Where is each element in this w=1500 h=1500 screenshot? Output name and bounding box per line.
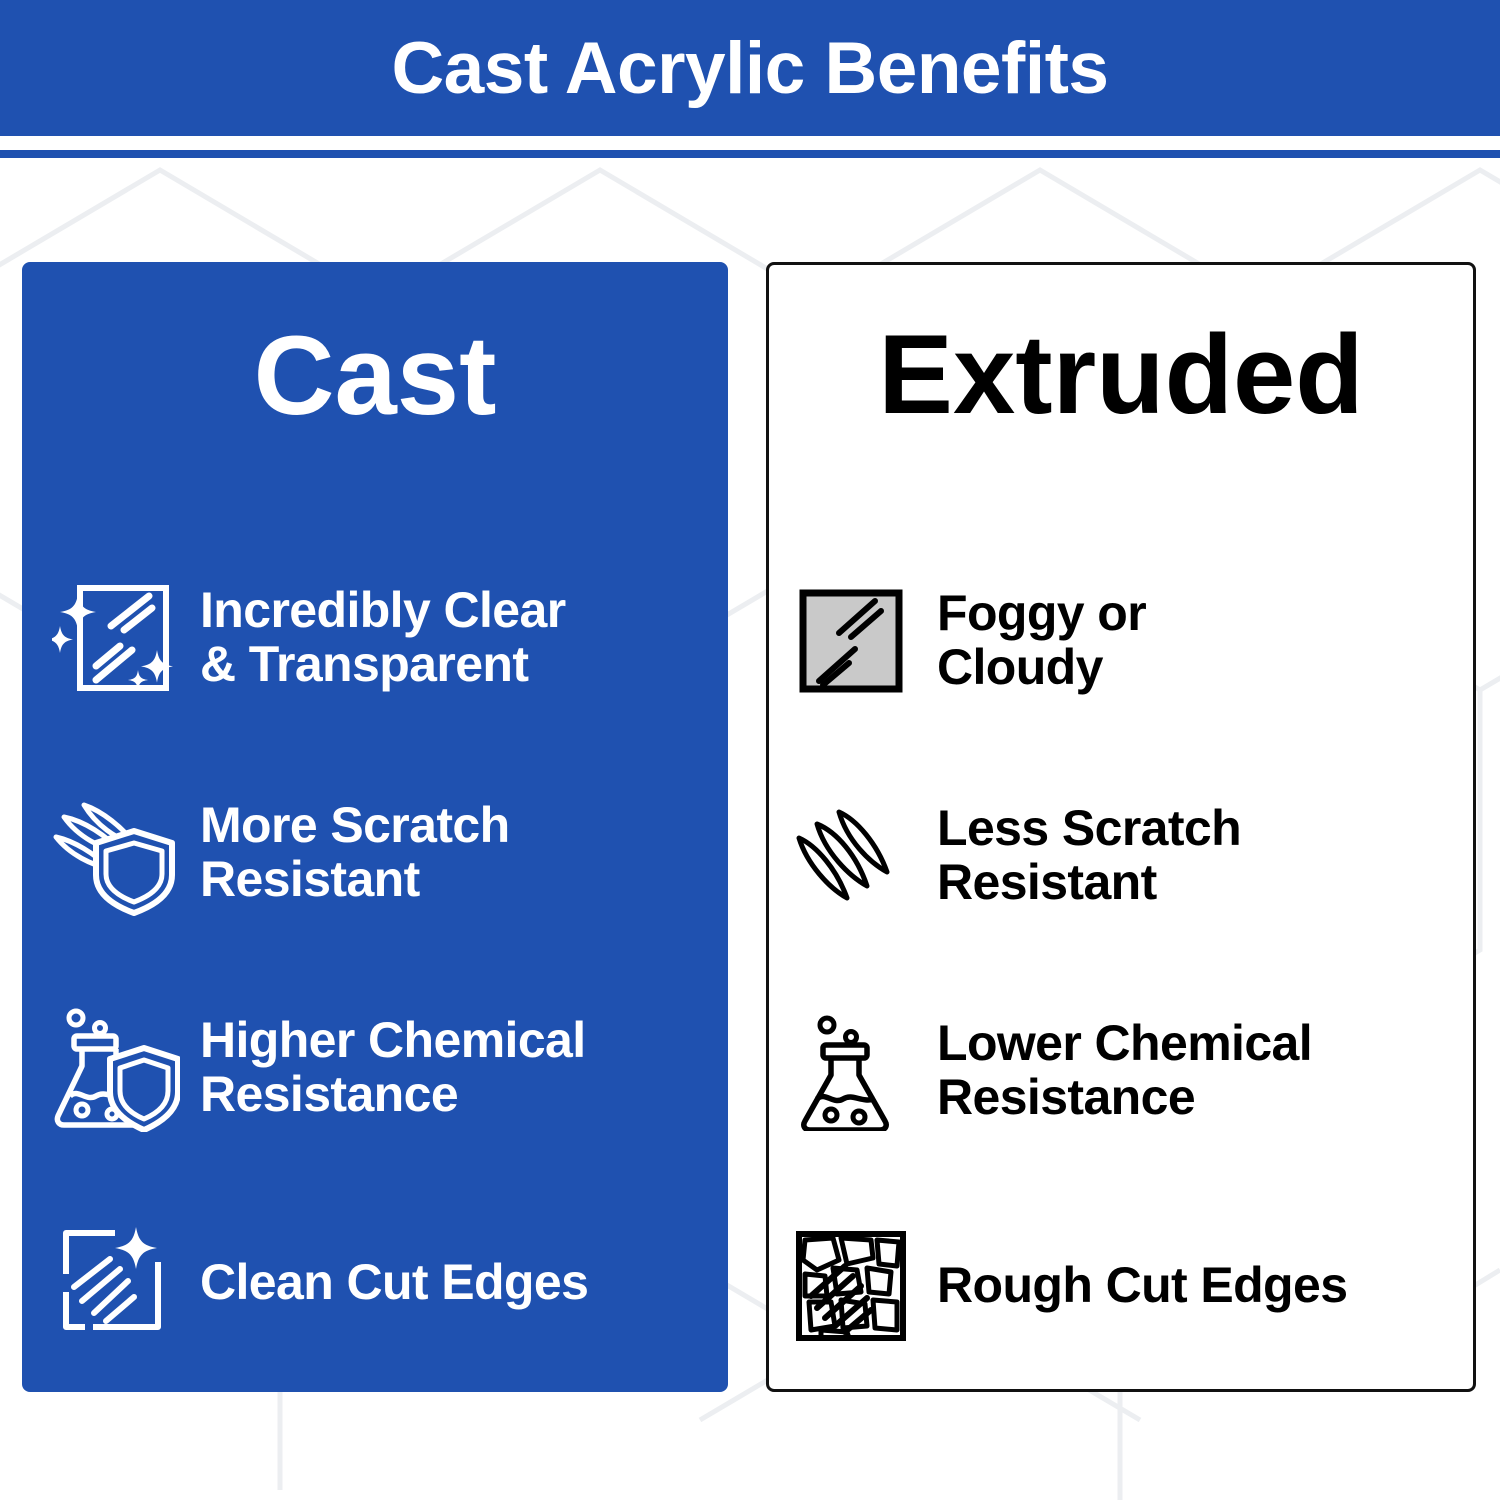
scratch-marks-icon xyxy=(791,796,911,916)
foggy-square-icon xyxy=(791,581,911,701)
clean-cut-edge-icon xyxy=(52,1219,180,1347)
drawback-row-rough-cut-edges: Rough Cut Edges xyxy=(769,1178,1473,1393)
panel-cast-heading: Cast xyxy=(22,262,728,432)
drawback-label-scratch-resistant: Less Scratch Resistant xyxy=(937,802,1241,909)
panel-extruded-rows: Foggy or Cloudy Less Scratch Resi xyxy=(769,533,1473,1393)
drawback-row-scratch-resistant: Less Scratch Resistant xyxy=(769,748,1473,963)
clear-transparent-icon xyxy=(52,574,180,702)
header-divider-rule xyxy=(0,150,1500,158)
cast-acrylic-benefits-infographic: Cast Acrylic Benefits Cast xyxy=(0,0,1500,1500)
benefit-label-clean-cut-edges: Clean Cut Edges xyxy=(200,1256,588,1310)
benefit-row-clear-transparent: Incredibly Clear & Transparent xyxy=(22,530,728,745)
benefit-row-scratch-resistant: More Scratch Resistant xyxy=(22,745,728,960)
benefit-row-chemical-resistance: Higher Chemical Resistance xyxy=(22,960,728,1175)
drawback-row-foggy-cloudy: Foggy or Cloudy xyxy=(769,533,1473,748)
drawback-label-chemical-resistance: Lower Chemical Resistance xyxy=(937,1017,1312,1124)
benefit-row-clean-cut-edges: Clean Cut Edges xyxy=(22,1175,728,1390)
benefit-label-chemical-resistance: Higher Chemical Resistance xyxy=(200,1014,586,1121)
scratch-shield-icon xyxy=(52,789,180,917)
benefit-label-scratch-resistant: More Scratch Resistant xyxy=(200,799,510,906)
drawback-row-chemical-resistance: Lower Chemical Resistance xyxy=(769,963,1473,1178)
panel-extruded-heading: Extruded xyxy=(769,265,1473,431)
benefit-label-clear-transparent: Incredibly Clear & Transparent xyxy=(200,584,566,691)
panel-cast-rows: Incredibly Clear & Transparent xyxy=(22,530,728,1390)
drawback-label-rough-cut-edges: Rough Cut Edges xyxy=(937,1259,1347,1313)
page-title: Cast Acrylic Benefits xyxy=(391,32,1108,105)
drawback-label-foggy-cloudy: Foggy or Cloudy xyxy=(937,587,1146,694)
flask-shield-icon xyxy=(52,1004,180,1132)
comparison-panels: Cast xyxy=(0,0,1500,1500)
panel-extruded: Extruded xyxy=(766,262,1476,1392)
flask-icon xyxy=(791,1011,911,1131)
header-bar: Cast Acrylic Benefits xyxy=(0,0,1500,136)
panel-cast: Cast xyxy=(22,262,728,1392)
rough-cut-edge-icon xyxy=(791,1226,911,1346)
